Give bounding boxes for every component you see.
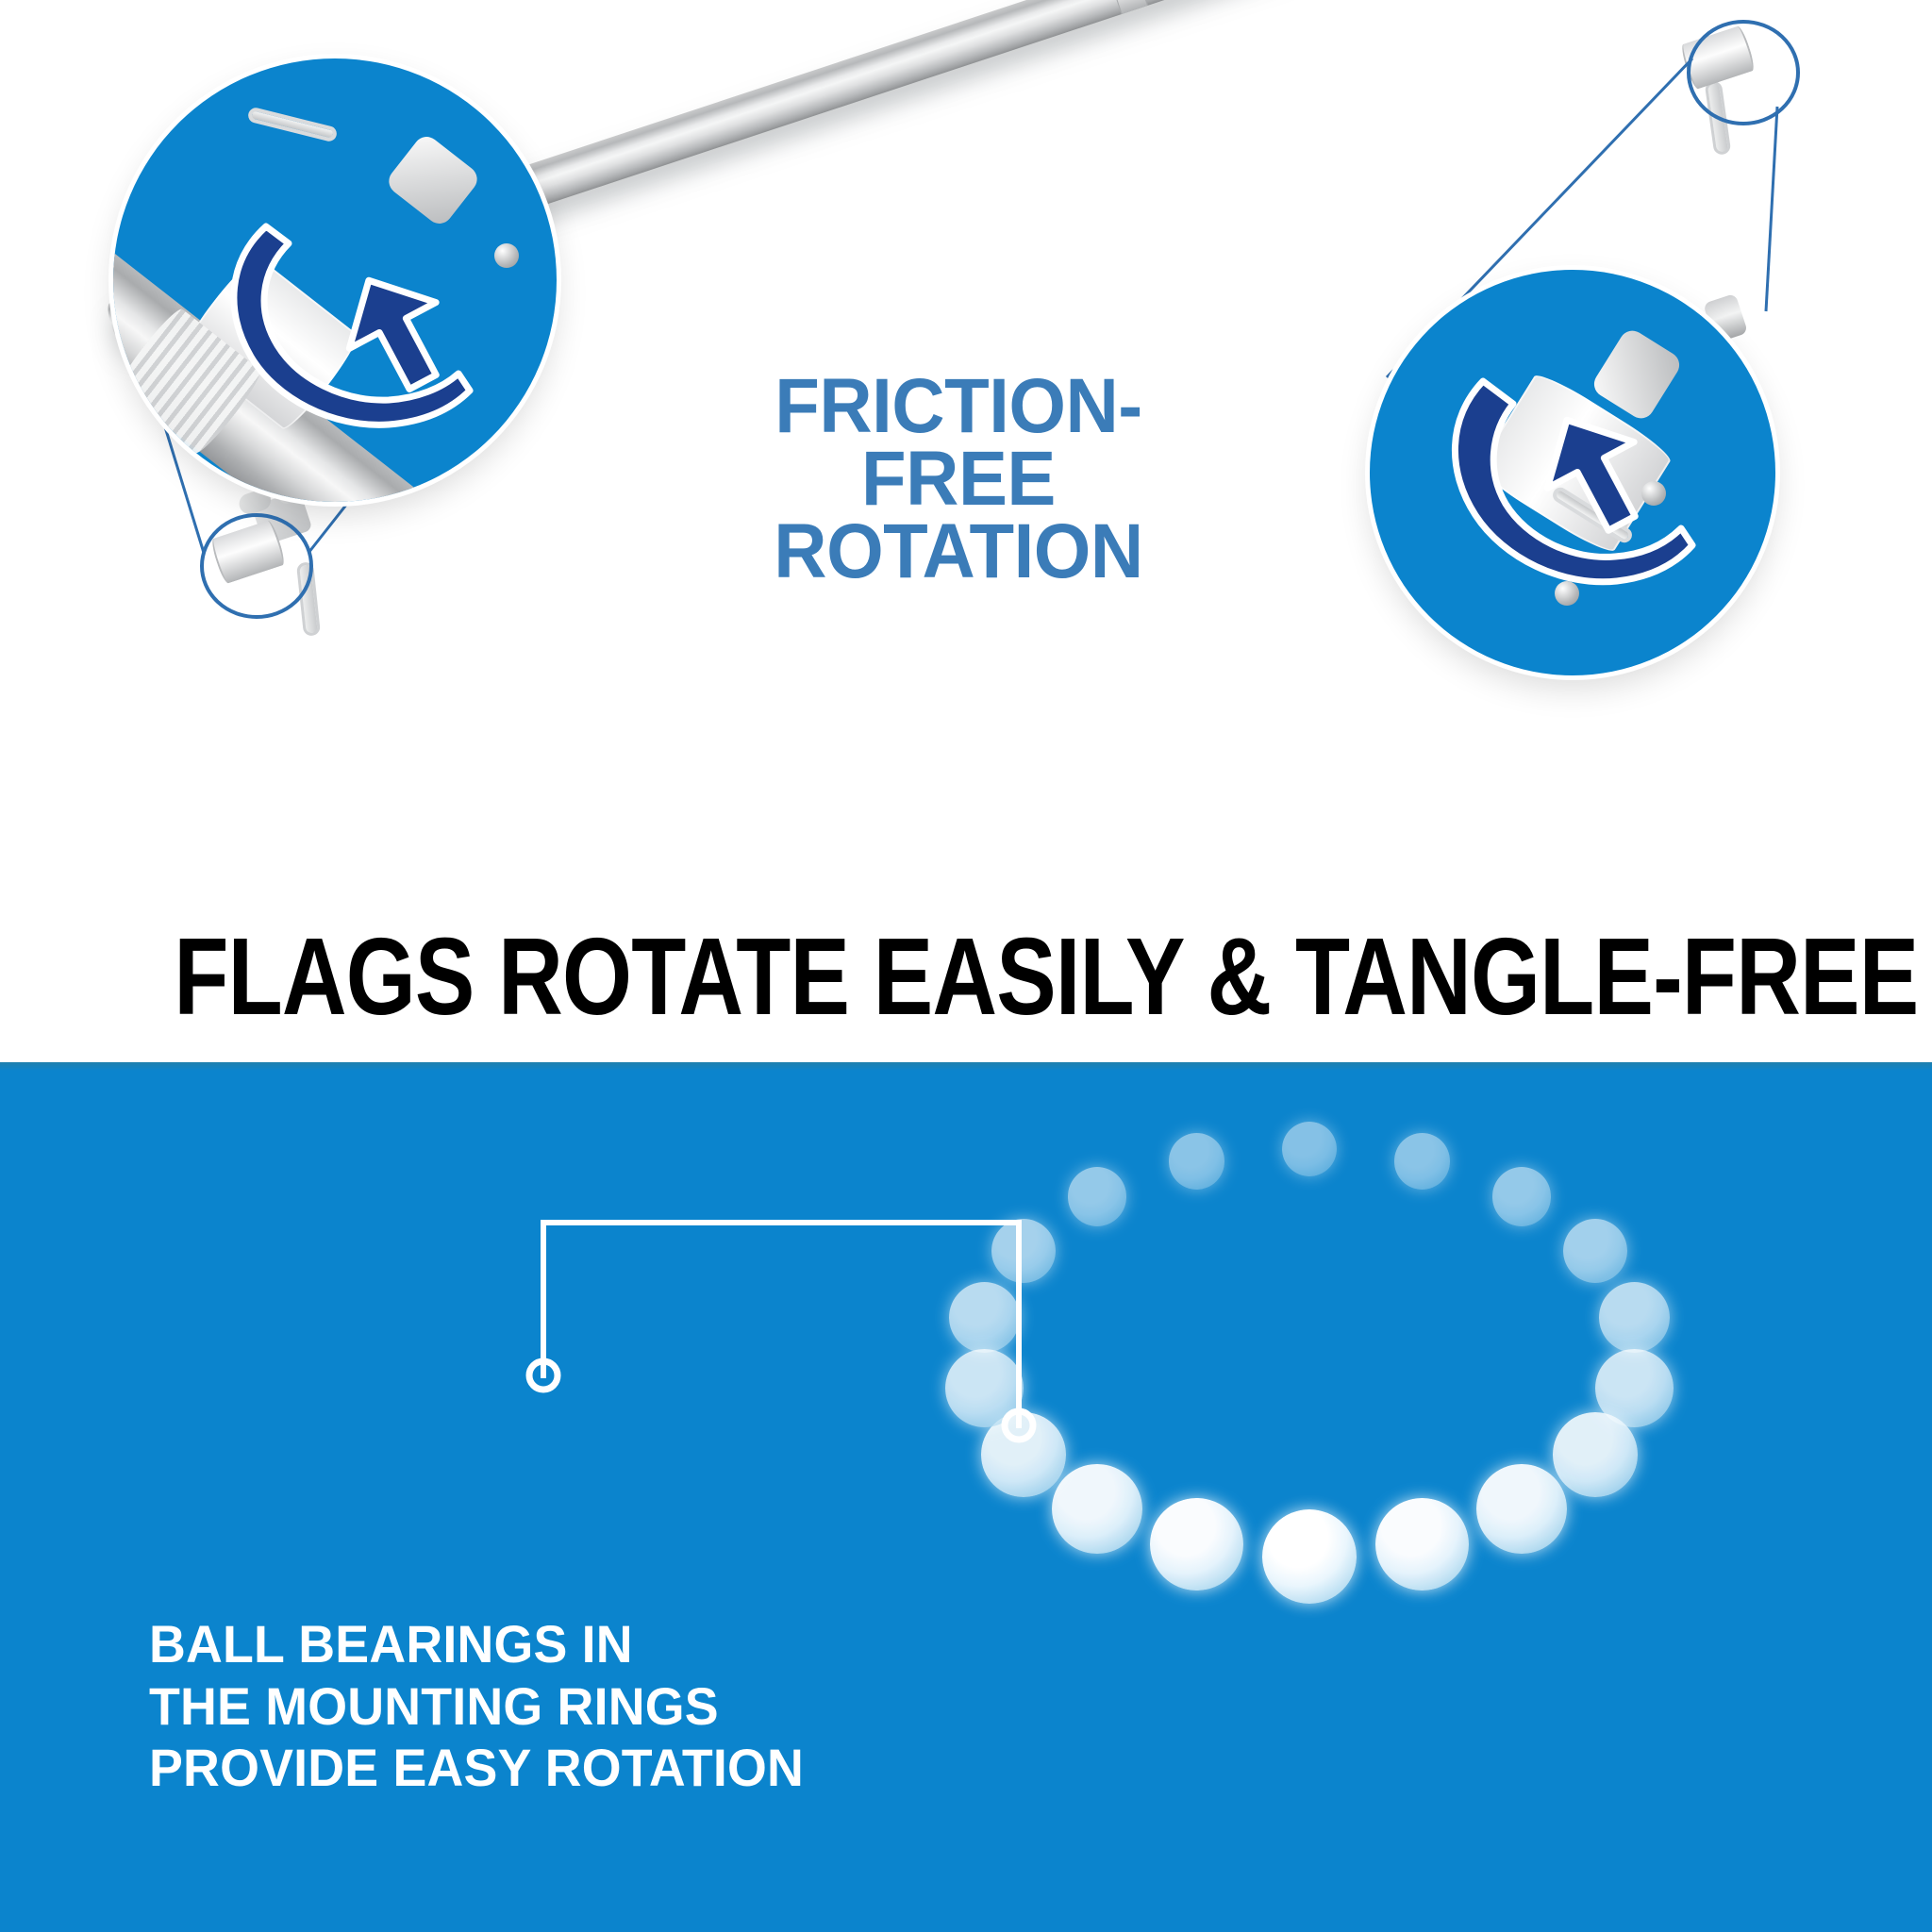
ball-bearing (1599, 1282, 1670, 1353)
flag-snap-clip-lower (296, 561, 321, 636)
ball-bearing (1563, 1219, 1628, 1284)
ball-bearing (945, 1349, 1024, 1427)
flag-snap-clip-upper (1705, 80, 1732, 156)
ball-bearing (1150, 1498, 1243, 1591)
mounting-ring-upper (1679, 25, 1757, 90)
ball-bearing (1262, 1509, 1357, 1604)
ball-bearing (991, 1219, 1057, 1284)
rotation-arrow-left (113, 58, 557, 502)
ball-bearing (1492, 1167, 1552, 1226)
callout-circle-left (113, 58, 557, 502)
top-section: FRICTION-FREE ROTATION FLAGS ROTATE EASI… (0, 0, 1932, 1062)
ball-bearing (1052, 1464, 1141, 1554)
ball-bearing (1553, 1412, 1638, 1497)
headline-flags-rotate-easily: FLAGS ROTATE EASILY & TANGLE-FREE (174, 913, 1757, 1040)
caption-ball-bearings: BALL BEARINGS IN THE MOUNTING RINGS PROV… (149, 1613, 804, 1799)
callout-circle-right (1370, 270, 1775, 675)
ball-bearing (1169, 1133, 1224, 1189)
ball-bearing (1394, 1133, 1450, 1189)
ball-bearing (1375, 1498, 1469, 1591)
rotation-arrow-right (1370, 270, 1775, 675)
infographic-stage: FRICTION-FREE ROTATION FLAGS ROTATE EASI… (0, 0, 1932, 1932)
ball-bearing (1282, 1122, 1337, 1176)
ball-bearings-group (0, 1062, 1932, 1932)
ball-bearing (949, 1282, 1020, 1353)
ball-bearing (1476, 1464, 1566, 1554)
bottom-section: BALL BEARINGS IN THE MOUNTING RINGS PROV… (0, 1062, 1932, 1932)
headline-friction-free-rotation: FRICTION-FREE ROTATION (681, 370, 1237, 588)
ball-bearing (1068, 1167, 1127, 1226)
